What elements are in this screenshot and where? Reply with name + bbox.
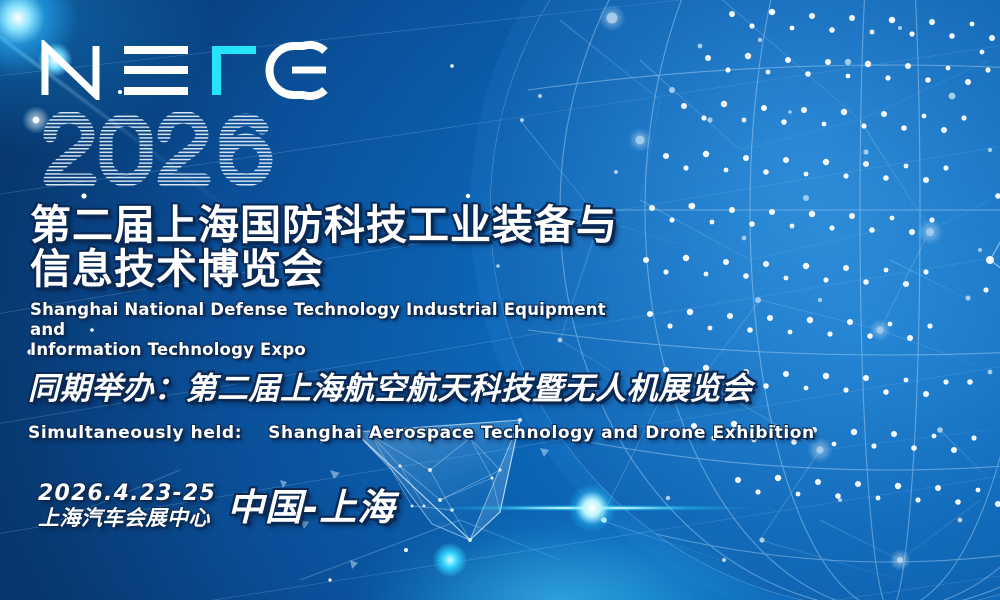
simultaneous-event-en: Simultaneously held: Shanghai Aerospace …	[28, 423, 815, 443]
flare-small-dot-icon	[433, 543, 467, 577]
year-2026	[40, 112, 290, 197]
logo-letter-t	[212, 46, 256, 95]
page-title-cn-line1: 第二届上海国防科技工业装备与	[30, 201, 618, 249]
year-2026-mark	[40, 112, 290, 192]
nete-logo-mark	[40, 40, 330, 100]
page-title-cn: 第二届上海国防科技工业装备与信息技术博览会	[30, 203, 618, 291]
logo-letter-n	[45, 46, 96, 95]
event-date: 2026.4.23-25	[38, 481, 216, 506]
date-venue-block: 2026.4.23-25 上海汽车会展中心	[38, 481, 216, 531]
page-title-cn-line2: 信息技术博览会	[30, 245, 324, 293]
nete-logo	[40, 40, 330, 100]
expo-poster: 第二届上海国防科技工业装备与信息技术博览会 Shanghai National …	[0, 0, 1000, 600]
logo-letter-e2	[270, 45, 326, 96]
simultaneous-event-cn: 同期举办：第二届上海航空航天科技暨无人机展览会	[28, 371, 753, 407]
event-city: 中国-上海	[227, 488, 395, 528]
page-title-en: Shanghai National Defense Technology Ind…	[30, 300, 630, 360]
event-venue: 上海汽车会展中心	[38, 506, 216, 531]
logo-letter-e1	[124, 46, 188, 95]
